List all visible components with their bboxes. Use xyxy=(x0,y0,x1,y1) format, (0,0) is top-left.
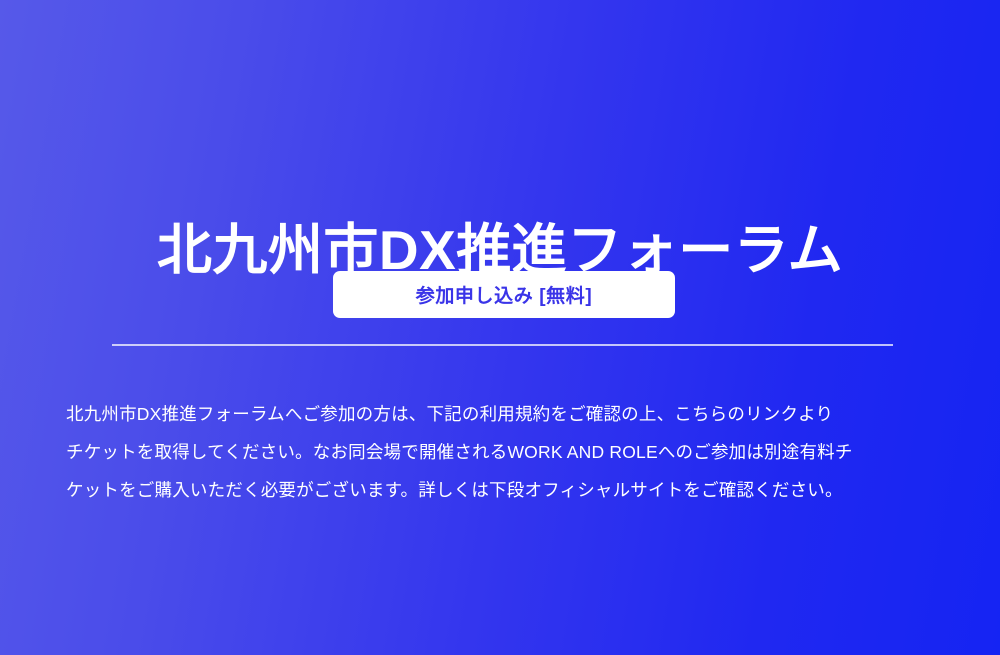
register-button-label: 参加申し込み [無料] xyxy=(416,281,593,308)
description-line-3: ケットをご購入いただく必要がございます。詳しくは下段オフィシャルサイトをご確認く… xyxy=(66,471,964,509)
hero-banner: 北九州市DX推進フォーラム 参加申し込み [無料] 北九州市DX推進フォーラムへ… xyxy=(0,0,1000,655)
description-line-1: 北九州市DX推進フォーラムへご参加の方は、下記の利用規約をご確認の上、こちらのリ… xyxy=(66,395,964,433)
divider xyxy=(112,344,893,346)
register-button[interactable]: 参加申し込み [無料] xyxy=(333,271,675,318)
description-line-2: チケットを取得してください。なお同会場で開催されるWORK AND ROLEへの… xyxy=(66,433,964,471)
description-text: 北九州市DX推進フォーラムへご参加の方は、下記の利用規約をご確認の上、こちらのリ… xyxy=(66,395,964,509)
